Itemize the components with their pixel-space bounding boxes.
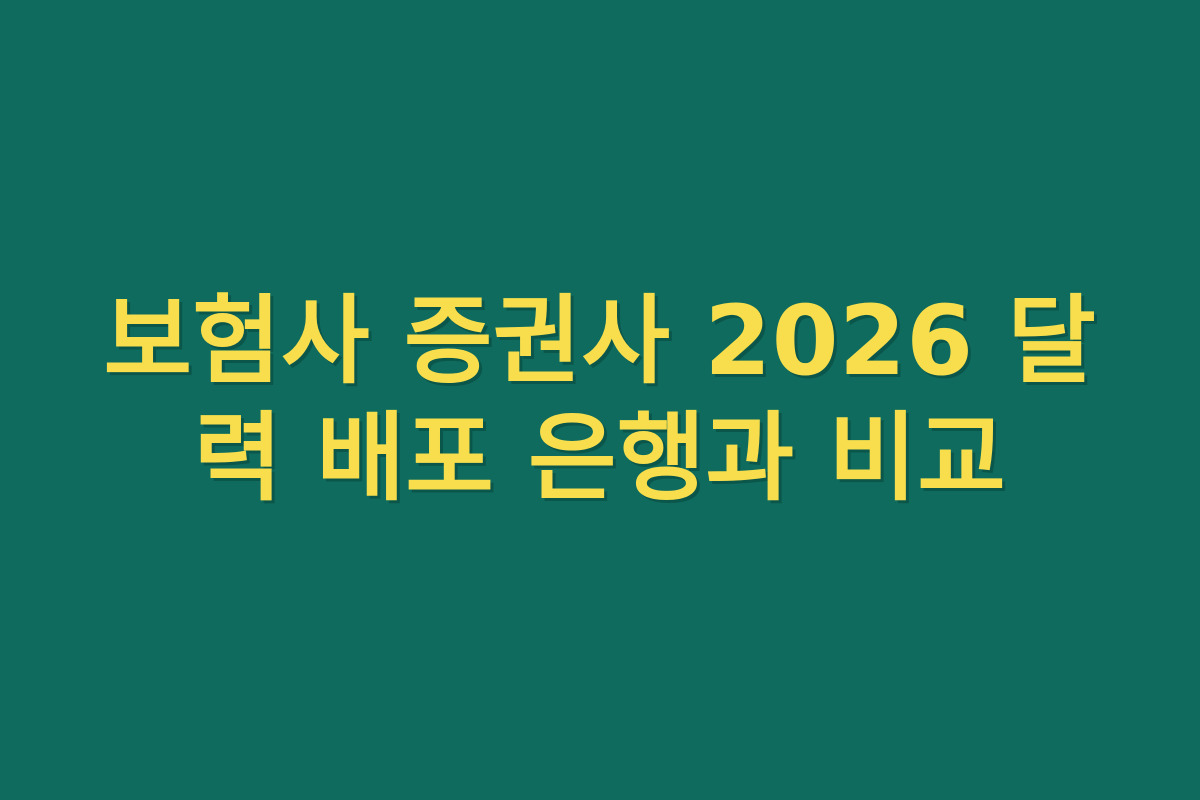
title-banner: 보험사 증권사 2026 달 력 배포 은행과 비교	[0, 0, 1200, 800]
headline-line-2: 력 배포 은행과 비교	[100, 400, 1100, 517]
headline-block: 보험사 증권사 2026 달 력 배포 은행과 비교	[100, 283, 1100, 517]
headline-line-1: 보험사 증권사 2026 달	[100, 283, 1100, 400]
